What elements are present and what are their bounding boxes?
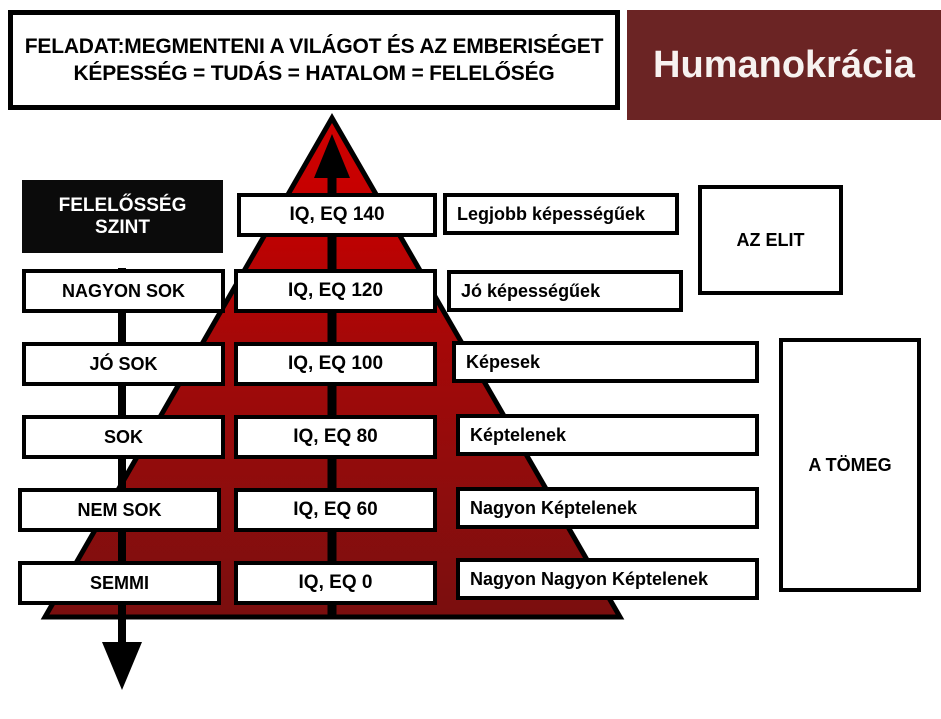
down-arrow-icon	[102, 268, 142, 690]
score-box-level-4: IQ, EQ 80	[234, 415, 437, 459]
capability-box-level-1: Legjobb képességűek	[443, 193, 679, 235]
elite-group-box: AZ ELIT	[698, 185, 843, 295]
responsibility-level-header: FELELŐSSÉG SZINT	[22, 180, 223, 253]
mission-line-1: FELADAT:MEGMENTENI A VILÁGOT ÉS AZ EMBER…	[25, 35, 603, 59]
capability-label-level-1: Legjobb képességűek	[457, 204, 645, 224]
elite-group-label: AZ ELIT	[737, 230, 805, 250]
score-label-level-3: IQ, EQ 100	[288, 353, 383, 374]
score-box-level-3: IQ, EQ 100	[234, 342, 437, 386]
score-label-level-4: IQ, EQ 80	[293, 426, 377, 447]
capability-box-level-3: Képesek	[452, 341, 759, 383]
score-box-level-5: IQ, EQ 60	[234, 488, 437, 532]
capability-label-level-2: Jó képességűek	[461, 281, 600, 301]
capability-label-level-4: Képtelenek	[470, 425, 566, 445]
responsibility-box-level-2: NAGYON SOK	[22, 269, 225, 313]
responsibility-box-level-4: SOK	[22, 415, 225, 459]
responsibility-header-line-2: SZINT	[95, 217, 150, 238]
capability-label-level-3: Képesek	[466, 352, 540, 372]
responsibility-box-level-5: NEM SOK	[18, 488, 221, 532]
score-label-level-2: IQ, EQ 120	[288, 280, 383, 301]
brand-title-box: Humanokrácia	[627, 10, 941, 120]
capability-label-level-6: Nagyon Nagyon Képtelenek	[470, 569, 708, 589]
responsibility-label-level-6: SEMMI	[90, 573, 149, 593]
responsibility-box-level-6: SEMMI	[18, 561, 221, 605]
score-box-level-6: IQ, EQ 0	[234, 561, 437, 605]
responsibility-label-level-4: SOK	[104, 427, 143, 447]
responsibility-label-level-2: NAGYON SOK	[62, 281, 185, 301]
brand-title-label: Humanokrácia	[653, 44, 915, 87]
responsibility-label-level-3: JÓ SOK	[89, 354, 157, 374]
score-box-level-1: IQ, EQ 140	[237, 193, 437, 237]
capability-box-level-5: Nagyon Képtelenek	[456, 487, 759, 529]
responsibility-header-line-1: FELELŐSSÉG	[59, 195, 187, 216]
mass-group-label: A TÖMEG	[808, 455, 891, 475]
score-box-level-2: IQ, EQ 120	[234, 269, 437, 313]
capability-box-level-6: Nagyon Nagyon Képtelenek	[456, 558, 759, 600]
responsibility-label-level-5: NEM SOK	[77, 500, 161, 520]
humanokracia-diagram: FELADAT:MEGMENTENI A VILÁGOT ÉS AZ EMBER…	[0, 0, 941, 719]
mission-line-2: KÉPESSÉG = TUDÁS = HATALOM = FELELŐSÉG	[73, 62, 554, 86]
capability-box-level-4: Képtelenek	[456, 414, 759, 456]
score-label-level-6: IQ, EQ 0	[299, 572, 373, 593]
score-label-level-1: IQ, EQ 140	[289, 204, 384, 225]
capability-label-level-5: Nagyon Képtelenek	[470, 498, 637, 518]
mass-group-box: A TÖMEG	[779, 338, 921, 592]
mission-statement-box: FELADAT:MEGMENTENI A VILÁGOT ÉS AZ EMBER…	[8, 10, 620, 110]
capability-box-level-2: Jó képességűek	[447, 270, 683, 312]
responsibility-box-level-3: JÓ SOK	[22, 342, 225, 386]
score-label-level-5: IQ, EQ 60	[293, 499, 377, 520]
